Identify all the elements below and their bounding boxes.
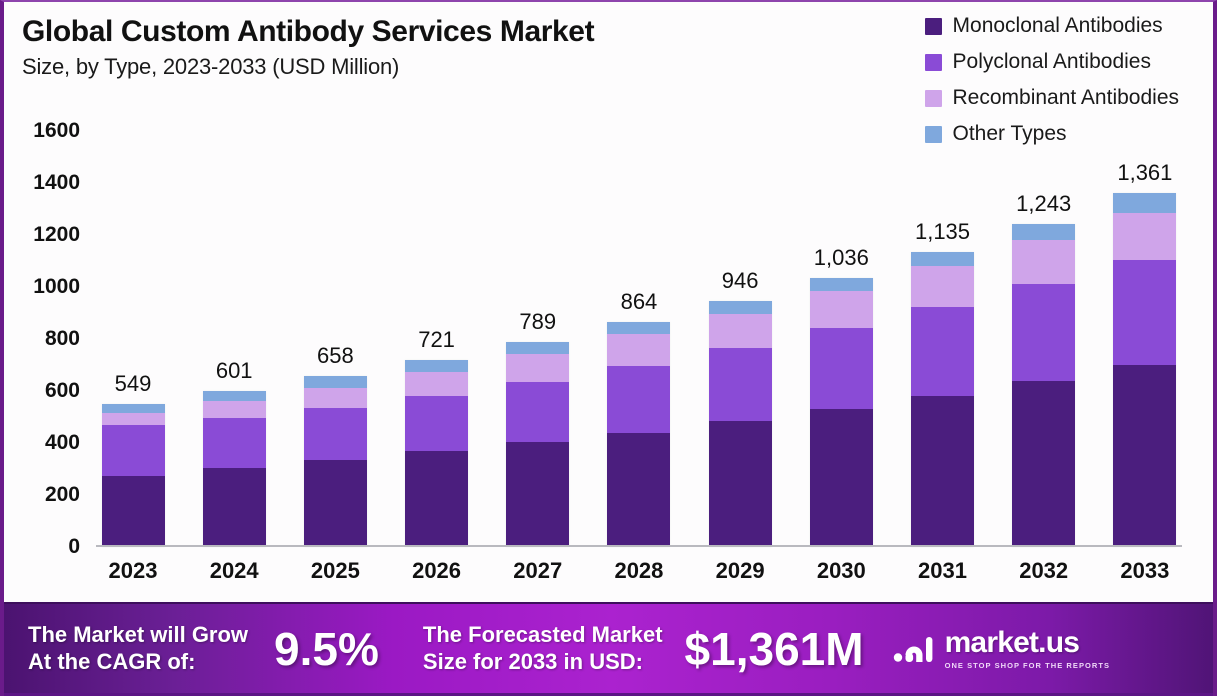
legend-swatch-icon	[925, 18, 942, 35]
bar-segment	[1012, 224, 1075, 240]
x-axis-tick-label: 2029	[703, 558, 777, 584]
bar-segment	[810, 291, 873, 329]
bar-segment	[709, 314, 772, 348]
y-axis-tick-label: 1400	[33, 171, 80, 195]
forecast-caption-line2: Size for 2033 in USD:	[423, 649, 663, 676]
bar-segment	[911, 307, 974, 396]
bar-total-label: 721	[418, 327, 455, 353]
summary-banner: The Market will Grow At the CAGR of: 9.5…	[4, 602, 1217, 696]
bar-segment	[1012, 240, 1075, 284]
x-axis-tick-label: 2026	[400, 558, 474, 584]
bar-segment	[911, 396, 974, 547]
legend-item-label: Monoclonal Antibodies	[953, 14, 1163, 38]
x-axis-tick-label: 2024	[197, 558, 271, 584]
chart-header: Global Custom Antibody Services Market S…	[22, 16, 842, 80]
bar-segment	[102, 425, 165, 476]
market-us-logo[interactable]: market.us ONE STOP SHOP FOR THE REPORTS	[892, 628, 1110, 670]
bar-segment	[810, 328, 873, 409]
legend-item-label: Recombinant Antibodies	[953, 86, 1179, 110]
x-axis-tick-label: 2033	[1108, 558, 1182, 584]
bar-group[interactable]: 946	[703, 131, 777, 547]
y-axis-tick-label: 1600	[33, 119, 80, 143]
bar-segment	[506, 442, 569, 547]
y-axis-labels: 02004006008001000120014001600	[4, 131, 90, 547]
legend-item[interactable]: Polyclonal Antibodies	[925, 50, 1151, 74]
market-us-logo-mark	[892, 631, 936, 667]
bar-segment	[203, 468, 266, 547]
y-axis-tick-label: 0	[68, 535, 80, 559]
bar-stack	[203, 391, 266, 547]
bar-segment	[506, 342, 569, 354]
bar-segment	[405, 372, 468, 396]
bar-total-label: 658	[317, 343, 354, 369]
x-axis-tick-label: 2023	[96, 558, 170, 584]
bar-total-label: 1,036	[814, 245, 869, 271]
bar-group[interactable]: 1,243	[1007, 131, 1081, 547]
plot-area: 5496016587217898649461,0361,1351,2431,36…	[96, 131, 1182, 547]
bar-segment	[405, 360, 468, 372]
cagr-caption-line1: The Market will Grow	[28, 622, 248, 649]
bar-total-label: 946	[722, 268, 759, 294]
bar-segment	[506, 382, 569, 442]
legend-swatch-icon	[925, 54, 942, 71]
x-axis-tick-label: 2031	[906, 558, 980, 584]
bar-segment	[102, 413, 165, 425]
bar-stack	[102, 404, 165, 547]
chart-legend: Monoclonal AntibodiesPolyclonal Antibodi…	[925, 14, 1179, 146]
bar-group[interactable]: 601	[197, 131, 271, 547]
x-axis-tick-label: 2028	[602, 558, 676, 584]
x-axis-tick-label: 2032	[1007, 558, 1081, 584]
cagr-caption: The Market will Grow At the CAGR of:	[28, 622, 248, 676]
x-axis-tick-label: 2027	[501, 558, 575, 584]
bar-segment	[203, 418, 266, 467]
bar-segment	[304, 408, 367, 460]
bar-segment	[911, 252, 974, 266]
bar-total-label: 1,361	[1117, 160, 1172, 186]
x-axis-labels: 2023202420252026202720282029203020312032…	[96, 558, 1182, 584]
bar-segment	[1113, 365, 1176, 547]
bar-segment	[1113, 260, 1176, 365]
bar-stack	[607, 322, 670, 547]
y-axis-tick-label: 800	[45, 327, 80, 351]
bar-total-label: 789	[519, 309, 556, 335]
bar-group[interactable]: 864	[602, 131, 676, 547]
bar-segment	[709, 421, 772, 547]
legend-item[interactable]: Recombinant Antibodies	[925, 86, 1179, 110]
bar-segment	[102, 404, 165, 413]
bar-segment	[810, 409, 873, 547]
bar-segment	[810, 278, 873, 291]
bar-segment	[203, 391, 266, 401]
forecast-caption: The Forecasted Market Size for 2033 in U…	[423, 622, 663, 676]
bar-group[interactable]: 658	[298, 131, 372, 547]
logo-wordmark: market.us	[945, 628, 1110, 658]
forecast-caption-line1: The Forecasted Market	[423, 622, 663, 649]
y-axis-tick-label: 400	[45, 431, 80, 455]
bar-stack	[1012, 224, 1075, 547]
x-axis-tick-label: 2030	[804, 558, 878, 584]
bar-total-label: 1,135	[915, 219, 970, 245]
bar-group[interactable]: 1,135	[906, 131, 980, 547]
bar-segment	[1012, 284, 1075, 381]
bar-segment	[607, 433, 670, 547]
bar-segment	[304, 460, 367, 547]
bar-segment	[607, 322, 670, 334]
bar-segment	[709, 348, 772, 422]
legend-item[interactable]: Monoclonal Antibodies	[925, 14, 1163, 38]
bar-stack	[810, 278, 873, 547]
bar-segment	[506, 354, 569, 382]
cagr-caption-line2: At the CAGR of:	[28, 649, 248, 676]
bar-stack	[709, 301, 772, 547]
bar-segment	[607, 334, 670, 365]
bar-segment	[203, 401, 266, 418]
legend-swatch-icon	[925, 90, 942, 107]
y-axis-tick-label: 1000	[33, 275, 80, 299]
y-axis-tick-label: 600	[45, 379, 80, 403]
page-title: Global Custom Antibody Services Market	[22, 16, 842, 48]
bar-segment	[1113, 213, 1176, 260]
bar-stack	[304, 376, 367, 547]
bar-segment	[102, 476, 165, 547]
bar-stack	[506, 342, 569, 547]
bar-segment	[405, 396, 468, 451]
bar-stack	[911, 252, 974, 547]
bar-group[interactable]: 549	[96, 131, 170, 547]
bar-segment	[607, 366, 670, 433]
bar-segment	[304, 376, 367, 388]
bar-group[interactable]: 721	[400, 131, 474, 547]
bar-group[interactable]: 1,361	[1108, 131, 1182, 547]
y-axis-tick-label: 200	[45, 483, 80, 507]
bar-group[interactable]: 1,036	[804, 131, 878, 547]
bar-segment	[1012, 381, 1075, 547]
bar-group[interactable]: 789	[501, 131, 575, 547]
bar-total-label: 1,243	[1016, 191, 1071, 217]
legend-item-label: Polyclonal Antibodies	[953, 50, 1151, 74]
market-us-logo-text: market.us ONE STOP SHOP FOR THE REPORTS	[945, 628, 1110, 670]
bar-stack	[1113, 193, 1176, 547]
logo-tagline: ONE STOP SHOP FOR THE REPORTS	[945, 661, 1110, 670]
bar-segment	[709, 301, 772, 313]
bar-segment	[405, 451, 468, 547]
bar-total-label: 601	[216, 358, 253, 384]
page-subtitle: Size, by Type, 2023-2033 (USD Million)	[22, 54, 842, 80]
bar-segment	[911, 266, 974, 307]
x-axis-line	[96, 545, 1182, 547]
x-axis-tick-label: 2025	[298, 558, 372, 584]
bar-segment	[304, 388, 367, 407]
y-axis-tick-label: 1200	[33, 223, 80, 247]
bar-series-container: 5496016587217898649461,0361,1351,2431,36…	[96, 131, 1182, 547]
cagr-value: 9.5%	[274, 622, 379, 676]
market-infographic: Global Custom Antibody Services Market S…	[0, 0, 1217, 696]
forecast-value: $1,361M	[685, 622, 864, 676]
bar-total-label: 549	[115, 371, 152, 397]
bar-stack	[405, 360, 468, 547]
bar-total-label: 864	[621, 289, 658, 315]
bar-segment	[1113, 193, 1176, 213]
